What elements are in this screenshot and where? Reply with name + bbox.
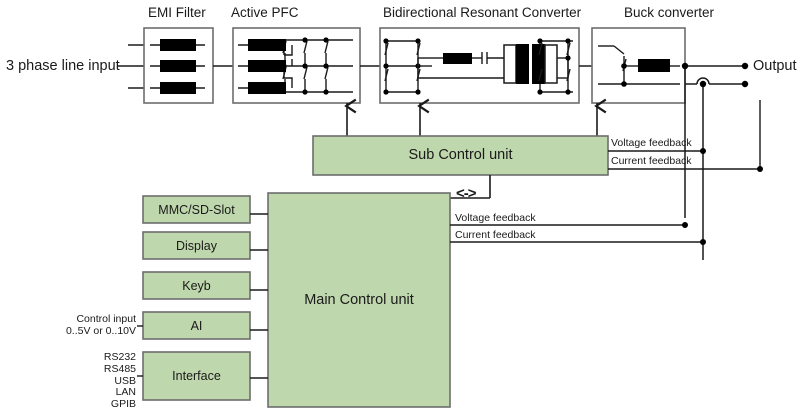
- resonant-converter-title: Bidirectional Resonant Converter: [383, 5, 623, 20]
- keyb-label: Keyb: [143, 272, 250, 299]
- emi-filter-title: EMI Filter: [148, 5, 236, 20]
- main-sub-bidirectional-link-icon: <->: [456, 186, 476, 203]
- input-label: 3 phase line input: [6, 58, 122, 74]
- peripheral-connection-lines: [250, 214, 268, 378]
- emi-filter-components: [160, 39, 196, 94]
- main-voltage-feedback-label: Voltage feedback: [455, 213, 536, 225]
- active-pfc-title: Active PFC: [231, 5, 331, 20]
- main-control-unit-label: Main Control unit: [268, 193, 450, 407]
- block-diagram-canvas: EMI Filter Active PFC Bidirectional Reso…: [0, 0, 801, 415]
- control-input-label: Control input 0..5V or 0..10V: [54, 314, 136, 338]
- resonant-inductor: [443, 53, 472, 64]
- interface-list-label: RS232 RS485 USB LAN GPIB: [54, 352, 136, 411]
- interface-label: Interface: [143, 352, 250, 400]
- output-wiring: [685, 66, 745, 260]
- buck-converter-title: Buck converter: [624, 5, 734, 20]
- display-label: Display: [143, 232, 250, 259]
- output-label: Output: [753, 58, 801, 74]
- active-pfc-inductors: [248, 39, 286, 94]
- sub-voltage-feedback-label: Voltage feedback: [611, 138, 692, 150]
- mmc-sd-slot-label: MMC/SD-Slot: [143, 196, 250, 223]
- sub-control-unit-label: Sub Control unit: [313, 136, 608, 175]
- sub-current-feedback-label: Current feedback: [611, 156, 692, 168]
- sub-control-drive-arrows: [347, 103, 597, 136]
- ai-label: AI: [143, 312, 250, 339]
- main-current-feedback-label: Current feedback: [455, 230, 536, 242]
